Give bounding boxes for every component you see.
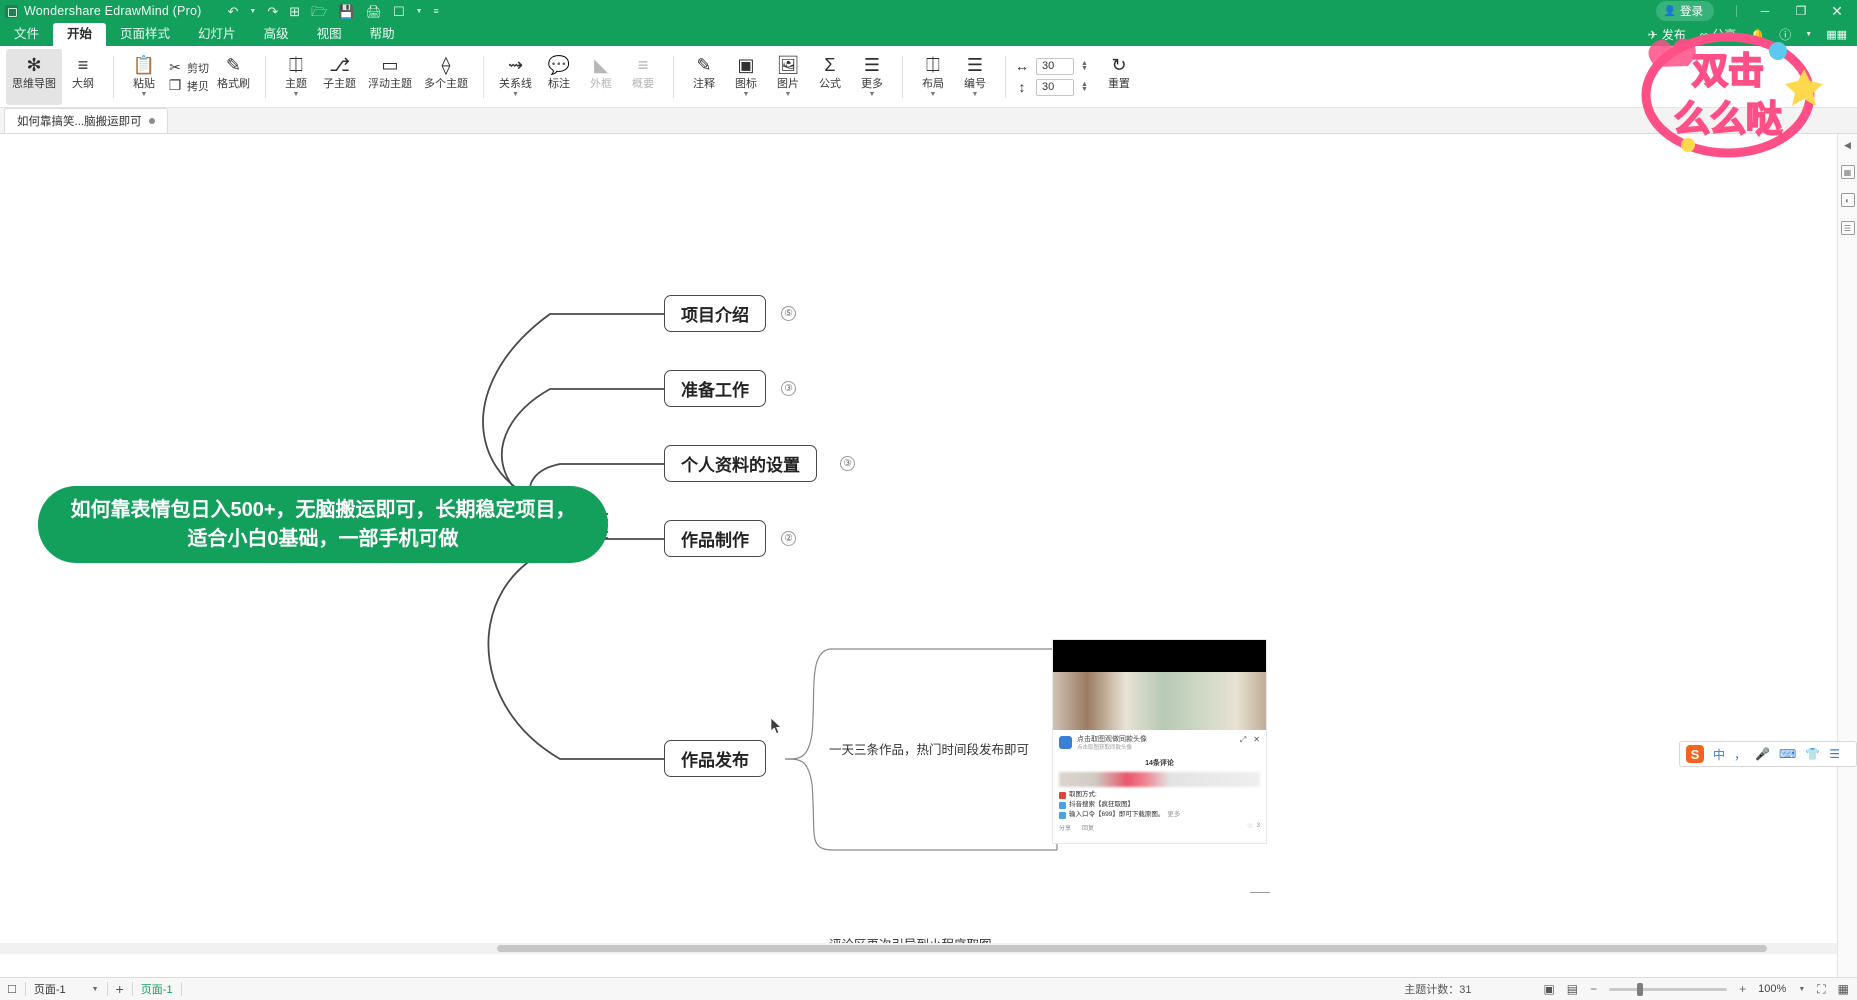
branch-topic-4[interactable]: 作品制作	[664, 520, 766, 557]
mic-icon[interactable]: 🎤	[1755, 747, 1770, 761]
chevron-down-icon[interactable]: ▼	[869, 91, 876, 98]
branch-badge-1: ⑤	[781, 306, 796, 321]
full-screen-icon[interactable]: ▦	[1838, 982, 1849, 996]
collapse-panel-icon[interactable]: ◀	[1844, 140, 1851, 151]
multi-topic-icon: ⟠	[442, 52, 451, 78]
ribbon-summary-label: 概要	[632, 78, 654, 90]
format-painter-icon: ✎	[226, 52, 241, 78]
blue-square-icon	[1059, 812, 1066, 819]
menu-item-home[interactable]: 开始	[53, 23, 106, 46]
branch-topic-3[interactable]: 个人资料的设置	[664, 445, 817, 482]
skin-icon[interactable]: 👕	[1805, 747, 1820, 761]
ribbon-floating-topic-button[interactable]: ▭ 浮动主题	[362, 49, 418, 105]
ime-menu-icon[interactable]: ☰	[1829, 747, 1840, 761]
ribbon-subtopic-label: 子主题	[323, 78, 356, 90]
ribbon-copy-label: 拷贝	[187, 78, 209, 94]
subtopic-1[interactable]: 一天三条作品，热门时间段发布即可	[829, 739, 1029, 758]
fit-width-icon[interactable]: ▤	[1567, 982, 1578, 996]
comment-line-3: 输入口令【699】即可下载原图。 更多	[1059, 810, 1260, 820]
menu-bar-right: ✈ 发布 ∞ 分享 🔔 ⓘ ▼ ▦▦	[1648, 26, 1857, 46]
ribbon-relation-line-button[interactable]: ⇝ 关系线 ▼	[493, 49, 538, 105]
ribbon-picture-label: 图片	[777, 78, 799, 90]
boundary-icon: ◣	[594, 52, 608, 78]
ribbon-format-painter-label: 格式刷	[217, 78, 250, 90]
redo-icon[interactable]: ↷	[267, 5, 278, 18]
mouse-cursor	[771, 718, 783, 735]
outline-icon: ≡	[78, 52, 89, 78]
divider	[1736, 5, 1737, 17]
bell-icon[interactable]: 🔔	[1750, 28, 1765, 42]
chevron-down-icon[interactable]: ▼	[743, 91, 750, 98]
blurred-user-row	[1059, 772, 1260, 787]
help-caret-icon[interactable]: ▼	[1805, 31, 1812, 38]
ribbon-note-button[interactable]: ✎ 注释	[683, 49, 725, 105]
ribbon-cut-button[interactable]: ✂ 剪切	[167, 59, 209, 76]
ribbon-copy-button[interactable]: ❐ 拷贝	[167, 77, 209, 94]
publish-button[interactable]: ✈ 发布	[1648, 26, 1686, 43]
ribbon-icon-label: 图标	[735, 78, 757, 90]
picture-icon: 🖼	[777, 52, 800, 78]
ribbon-subtopic-button[interactable]: ⎇ 子主题	[317, 49, 362, 105]
mindmap-canvas[interactable]: 如何靠表情包日入500+，无脑搬运即可，长期稳定项目，适合小白0基础，一部手机可…	[0, 134, 1837, 977]
divider	[181, 982, 182, 996]
central-topic[interactable]: 如何靠表情包日入500+，无脑搬运即可，长期稳定项目，适合小白0基础，一部手机可…	[38, 486, 608, 563]
divider	[902, 56, 903, 98]
expand-icon[interactable]: ⤢	[1240, 735, 1246, 745]
fit-page-icon[interactable]: ▣	[1543, 982, 1554, 996]
ribbon-multi-topic-button[interactable]: ⟠ 多个主题	[418, 49, 474, 105]
document-tab-label: 如何靠搞笑...脑搬运即可	[17, 113, 142, 129]
sogou-logo-icon[interactable]: S	[1686, 745, 1704, 763]
branch-topic-5[interactable]: 作品发布	[664, 740, 766, 777]
screenshot-photo	[1053, 672, 1266, 730]
red-square-icon	[1059, 792, 1066, 799]
ribbon-group-reset: ↻ 重置	[1092, 49, 1146, 105]
menu-item-page-style[interactable]: 页面样式	[106, 23, 184, 46]
print-icon[interactable]: 🖨	[365, 5, 382, 18]
save-icon[interactable]: 💾	[338, 5, 354, 18]
title-bar: Wondershare EdrawMind (Pro) ↶ ▼ ↷ ⊞ 🗁 💾 …	[0, 0, 1857, 22]
open-file-icon[interactable]: 🗁	[311, 5, 327, 18]
comment-line-1-text: 取图方式:	[1069, 790, 1097, 800]
ribbon-paste-label: 粘贴	[133, 78, 155, 90]
publish-label: 发布	[1662, 26, 1686, 43]
publish-icon: ✈	[1648, 28, 1658, 42]
ribbon-group-insert: ✎ 注释 ▣ 图标 ▼ 🖼 图片 ▼ Σ 公式 ☰ 更多 ▼	[677, 49, 899, 105]
chevron-down-icon[interactable]: ▼	[930, 91, 937, 98]
comment-line-2: 抖音搜索【疯狂取图】	[1059, 800, 1260, 810]
divider	[265, 56, 266, 98]
divider	[113, 56, 114, 98]
ribbon-note-label: 注释	[693, 78, 715, 90]
zoom-slider[interactable]	[1609, 988, 1727, 991]
ribbon-relation-line-label: 关系线	[499, 78, 532, 90]
ribbon-topic-button[interactable]: ⎅ 主题 ▼	[275, 49, 317, 105]
ribbon-icon-button[interactable]: ▣ 图标 ▼	[725, 49, 767, 105]
branch-topic-2[interactable]: 准备工作	[664, 370, 766, 407]
menu-item-help[interactable]: 帮助	[356, 23, 409, 46]
menu-item-file[interactable]: 文件	[0, 23, 53, 46]
zoom-value-label: 100%	[1758, 983, 1786, 995]
ribbon-more-label: 更多	[861, 78, 883, 90]
keyboard-icon[interactable]: ⌨	[1779, 747, 1796, 761]
menu-bar: 文件 开始 页面样式 幻灯片 高级 视图 帮助 ✈ 发布 ∞ 分享 🔔 ⓘ ▼ …	[0, 22, 1857, 46]
ribbon-group-annotation: ⇝ 关系线 ▼ 💬 标注 ◣ 外框 ≡ 概要	[487, 49, 670, 105]
document-tab[interactable]: 如何靠搞笑...脑搬运即可	[4, 108, 168, 133]
grid-icon[interactable]: ▦▦	[1826, 28, 1847, 41]
reset-icon: ↻	[1111, 52, 1126, 78]
heart-icon: ♡	[1247, 823, 1252, 832]
screenshot-header-row: 点击取图观做同款头像 点击取图获取同款头像 ⤢ ✕	[1059, 735, 1260, 752]
h-spacing-input[interactable]: 30	[1036, 58, 1074, 75]
h-spacing-stepper[interactable]: ▲▼	[1081, 61, 1088, 71]
maximize-button[interactable]: ❐	[1783, 0, 1819, 22]
quick-access-toolbar[interactable]: ↶ ▼ ↷ ⊞ 🗁 💾 🖨 ☐ ▼ ≡	[227, 5, 438, 18]
branch-badge-2: ③	[781, 381, 796, 396]
comment-line-3-text: 输入口令【699】即可下载原图。	[1069, 810, 1164, 820]
login-button[interactable]: 👤 登录	[1656, 1, 1714, 21]
topic-icon: ⎅	[289, 52, 303, 78]
chevron-down-icon[interactable]: ▼	[972, 91, 979, 98]
branch-topic-1[interactable]: 项目介绍	[664, 295, 766, 332]
document-tab-strip: 如何靠搞笑...脑搬运即可	[0, 108, 1857, 134]
menu-item-advanced[interactable]: 高级	[250, 23, 303, 46]
ribbon-more-button[interactable]: ☰ 更多 ▼	[851, 49, 893, 105]
ribbon-group-topics: ⎅ 主题 ▼ ⎇ 子主题 ▭ 浮动主题 ⟠ 多个主题	[269, 49, 480, 105]
ribbon-reset-label: 重置	[1108, 78, 1130, 90]
divider	[673, 56, 674, 98]
comment-count: 14条评论	[1059, 758, 1260, 768]
ribbon-layout-button[interactable]: ⎅ 布局 ▼	[912, 49, 954, 105]
ribbon-multi-topic-label: 多个主题	[424, 78, 468, 90]
like-group[interactable]: ♡ 3	[1247, 823, 1260, 832]
horizontal-scrollbar[interactable]	[0, 943, 1837, 954]
summary-icon: ≡	[638, 52, 649, 78]
callout-icon: 💬	[548, 52, 570, 78]
scissors-icon: ✂	[167, 59, 183, 76]
v-spacing-input[interactable]: 30	[1036, 79, 1074, 96]
app-badge-icon	[1059, 736, 1072, 749]
minimize-button[interactable]: ─	[1747, 0, 1783, 22]
v-spacing-stepper[interactable]: ▲▼	[1081, 82, 1088, 92]
share-button[interactable]: ∞ 分享	[1700, 26, 1737, 43]
ribbon-group-spacing: ↔ 30 ▲▼ ↕ 30 ▲▼	[1009, 58, 1092, 96]
zoom-in-button[interactable]: +	[1739, 982, 1746, 996]
branch-badge-4: ②	[781, 531, 796, 546]
export-caret-icon[interactable]: ▼	[416, 8, 423, 15]
chevron-down-icon[interactable]: ▼	[293, 91, 300, 98]
ribbon-group-clipboard: 📋 粘贴 ▼ ✂ 剪切 ❐ 拷贝 ✎ 格式刷	[117, 49, 262, 105]
mindmap-icon: ✻	[26, 52, 41, 78]
app-logo-icon	[5, 5, 18, 18]
screenshot-actions: ⤢ ✕	[1240, 735, 1260, 745]
page-selector[interactable]: 页面-1 ▼	[34, 981, 99, 997]
theme-panel-icon[interactable]: ◐	[1841, 193, 1855, 207]
ribbon-toolbar: ✻ 思维导图 ≡ 大纲 📋 粘贴 ▼ ✂ 剪切 ❐ 拷贝 ✎ 格式刷	[0, 46, 1857, 108]
screenshot-title: 点击取图观做同款头像	[1077, 735, 1147, 744]
like-count: 3	[1257, 823, 1260, 832]
divider	[483, 56, 484, 98]
page-view-icon[interactable]: ☐	[7, 983, 17, 996]
more-list-icon: ☰	[864, 52, 880, 78]
close-button[interactable]: ✕	[1819, 0, 1855, 22]
login-label: 登录	[1680, 3, 1703, 19]
close-icon[interactable]: ✕	[1253, 735, 1260, 745]
subtopic-icon: ⎇	[329, 52, 350, 78]
formula-sigma-icon: Σ	[824, 52, 835, 78]
more-options-icon[interactable]: ≡	[434, 7, 439, 16]
chevron-down-icon[interactable]: ▼	[785, 91, 792, 98]
comment-line-2-text: 抖音搜索【疯狂取图】	[1069, 800, 1134, 810]
ribbon-reset-button[interactable]: ↻ 重置	[1098, 49, 1140, 105]
screenshot-subtitle: 点击取图获取同款头像	[1077, 744, 1147, 752]
new-file-icon[interactable]: ⊞	[289, 5, 300, 18]
outline-panel-icon[interactable]: ☰	[1841, 221, 1855, 235]
active-page-tab[interactable]: 页面-1	[141, 981, 173, 997]
divider	[132, 982, 133, 996]
ribbon-cut-label: 剪切	[187, 60, 209, 76]
style-panel-icon[interactable]: ▦	[1841, 165, 1855, 179]
divider	[25, 982, 26, 996]
numbering-icon: ☰	[967, 52, 983, 78]
ribbon-group-view: ✻ 思维导图 ≡ 大纲	[0, 49, 110, 105]
undo-caret-icon[interactable]: ▼	[249, 8, 256, 15]
status-bar-right: 主题计数：31 ▣ ▤ − + 100% ▼ ⛶ ▦	[1404, 981, 1857, 997]
share-label[interactable]: 分享	[1059, 823, 1071, 832]
chevron-down-icon[interactable]: ▼	[141, 91, 148, 98]
comment-line-1: 取图方式:	[1059, 790, 1260, 800]
horizontal-spacing-row: ↔ 30 ▲▼	[1013, 58, 1088, 75]
ribbon-outline-label: 大纲	[72, 78, 94, 90]
divider	[107, 982, 108, 996]
comment-more-label[interactable]: 更多	[1167, 810, 1180, 820]
chevron-down-icon[interactable]: ▼	[512, 91, 519, 98]
ribbon-topic-label: 主题	[285, 78, 307, 90]
vertical-spacing-row: ↕ 30 ▲▼	[1013, 79, 1088, 96]
presentation-icon[interactable]: ⛶	[1817, 982, 1825, 997]
relation-line-icon: ⇝	[508, 52, 523, 78]
ribbon-boundary-button: ◣ 外框	[580, 49, 622, 105]
share-icon: ∞	[1700, 28, 1709, 42]
branch-badge-3: ③	[840, 456, 855, 471]
ribbon-group-layout: ⎅ 布局 ▼ ☰ 编号 ▼	[906, 49, 1002, 105]
zoom-out-button[interactable]: −	[1590, 982, 1597, 996]
ribbon-summary-button: ≡ 概要	[622, 49, 664, 105]
add-page-button[interactable]: +	[116, 981, 124, 997]
ime-mode-label[interactable]: 中	[1713, 746, 1725, 763]
ribbon-numbering-label: 编号	[964, 78, 986, 90]
undo-icon[interactable]: ↶	[227, 5, 238, 18]
ribbon-format-painter-button[interactable]: ✎ 格式刷	[211, 49, 256, 105]
screenshot-black-bar	[1053, 640, 1266, 672]
menu-item-view[interactable]: 视图	[303, 23, 356, 46]
divider	[1005, 56, 1006, 98]
app-title: Wondershare EdrawMind (Pro)	[24, 4, 201, 18]
embedded-screenshot[interactable]: 点击取图观做同款头像 点击取图获取同款头像 ⤢ ✕ 14条评论 取图方式: 抖音…	[1052, 639, 1267, 844]
ribbon-mindmap-label: 思维导图	[12, 78, 56, 90]
title-bar-right: 👤 登录 ─ ❐ ✕	[1656, 0, 1857, 22]
blue-square-icon	[1059, 802, 1066, 809]
page-selector-value: 页面-1	[34, 981, 66, 997]
ribbon-callout-label: 标注	[548, 78, 570, 90]
reply-label[interactable]: 回复	[1082, 823, 1094, 832]
copy-icon: ❐	[167, 77, 183, 94]
help-icon[interactable]: ⓘ	[1779, 26, 1791, 43]
comment-footer: 分享 回复 ♡ 3	[1059, 823, 1260, 832]
ribbon-boundary-label: 外框	[590, 78, 612, 90]
ribbon-callout-button[interactable]: 💬 标注	[538, 49, 580, 105]
h-spacing-icon: ↔	[1013, 58, 1031, 74]
horizontal-scroll-thumb[interactable]	[497, 945, 1767, 952]
note-pencil-icon: ✎	[696, 52, 711, 78]
export-icon[interactable]: ☐	[393, 5, 405, 18]
ribbon-mindmap-button[interactable]: ✻ 思维导图	[6, 49, 62, 105]
screenshot-body: 点击取图观做同款头像 点击取图获取同款头像 ⤢ ✕ 14条评论 取图方式: 抖音…	[1053, 730, 1266, 832]
topic-count-label: 主题计数：31	[1404, 981, 1471, 997]
status-bar: ☐ 页面-1 ▼ + 页面-1 主题计数：31 ▣ ▤ − + 100% ▼ ⛶…	[0, 977, 1857, 1000]
layout-icon: ⎅	[926, 52, 940, 78]
menu-item-slideshow[interactable]: 幻灯片	[184, 23, 250, 46]
ribbon-picture-button[interactable]: 🖼 图片 ▼	[767, 49, 809, 105]
punctuation-icon[interactable]: ，	[1734, 746, 1746, 763]
paste-icon: 📋	[133, 52, 155, 78]
ribbon-formula-button[interactable]: Σ 公式	[809, 49, 851, 105]
user-icon: 👤	[1664, 6, 1676, 17]
right-side-panel: ◀ ▦ ◐ ☰	[1837, 134, 1857, 977]
ribbon-numbering-button[interactable]: ☰ 编号 ▼	[954, 49, 996, 105]
v-spacing-icon: ↕	[1013, 79, 1031, 95]
sticker-icon: ▣	[737, 52, 754, 78]
canvas-tick-mark	[1250, 892, 1270, 893]
unsaved-indicator-icon	[149, 118, 155, 124]
ribbon-formula-label: 公式	[819, 78, 841, 90]
floating-topic-icon: ▭	[381, 52, 398, 78]
share-label: 分享	[1712, 26, 1736, 43]
ribbon-paste-button[interactable]: 📋 粘贴 ▼	[123, 49, 165, 105]
ribbon-cut-copy-stack: ✂ 剪切 ❐ 拷贝	[165, 49, 211, 105]
ime-toolbar[interactable]: S 中 ， 🎤 ⌨ 👕 ☰	[1679, 741, 1857, 767]
zoom-slider-knob[interactable]	[1637, 983, 1643, 996]
ribbon-floating-topic-label: 浮动主题	[368, 78, 412, 90]
chevron-down-icon[interactable]: ▼	[92, 986, 99, 993]
ribbon-outline-button[interactable]: ≡ 大纲	[62, 49, 104, 105]
chevron-down-icon[interactable]: ▼	[1798, 986, 1805, 993]
ribbon-layout-label: 布局	[922, 78, 944, 90]
